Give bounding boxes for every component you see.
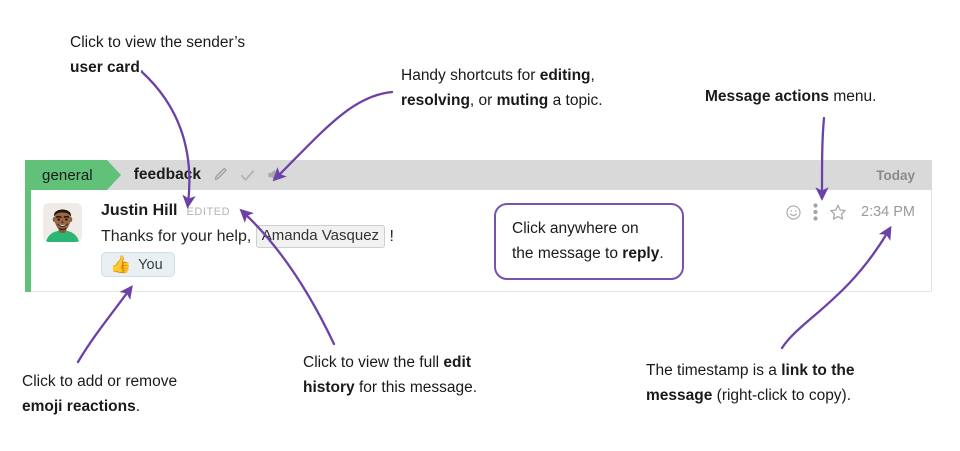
- callout-reply-bold: reply: [622, 245, 659, 262]
- date-label-today: Today: [876, 168, 915, 183]
- annotation-emoji-reactions: Click to add or remove emoji reactions.: [22, 369, 292, 419]
- annotation-message-actions: Message actions menu.: [705, 84, 955, 109]
- mute-speaker-icon[interactable]: [267, 167, 285, 183]
- annotation-shortcuts-muting: muting: [497, 92, 549, 109]
- annotation-shortcuts-tail: a topic.: [548, 92, 602, 109]
- message-body[interactable]: Justin Hill EDITED Thanks for your help,…: [31, 190, 932, 292]
- reaction-row: 👍 You: [101, 252, 175, 277]
- topic-bar: general feedback: [31, 160, 932, 190]
- annotation-edit-history-pre: Click to view the full: [303, 354, 443, 371]
- annotation-message-actions-bold: Message actions: [705, 88, 829, 105]
- annotation-user-card: Click to view the sender’s user card.: [70, 30, 360, 80]
- callout-reply: Click anywhere on the message to reply.: [494, 203, 684, 280]
- avatar[interactable]: [43, 203, 82, 242]
- emoji-smiley-icon[interactable]: [785, 204, 802, 221]
- pencil-icon[interactable]: [212, 167, 228, 183]
- annotation-timestamp-link: The timestamp is a link to the message (…: [646, 358, 956, 408]
- topic-action-icons: [212, 167, 285, 184]
- message-timestamp[interactable]: 2:34 PM: [861, 204, 915, 220]
- annotation-shortcuts-mid1: ,: [591, 67, 595, 84]
- stream-name: general: [42, 167, 93, 184]
- annotation-shortcuts-editing: editing: [540, 67, 591, 84]
- annotation-user-card-line1: Click to view the sender’s: [70, 34, 245, 51]
- reaction-label: You: [138, 257, 162, 273]
- annotation-user-card-tail: .: [140, 59, 144, 76]
- annotation-timestamp-pre: The timestamp is a: [646, 362, 781, 379]
- annotation-emoji-tail: .: [136, 398, 140, 415]
- annotation-user-card-bold: user card: [70, 59, 140, 76]
- annotation-message-actions-tail: menu.: [829, 88, 876, 105]
- annotation-shortcuts-mid2: , or: [470, 92, 497, 109]
- callout-reply-tail: .: [659, 245, 663, 262]
- annotation-shortcuts-pre: Handy shortcuts for: [401, 67, 540, 84]
- check-icon[interactable]: [239, 167, 256, 184]
- annotation-timestamp-tail: (right-click to copy).: [712, 387, 851, 404]
- message-text-before-mention: Thanks for your help,: [101, 226, 256, 248]
- callout-reply-pre: Click anywhere on the message to: [512, 220, 639, 262]
- annotation-emoji-pre: Click to add or remove: [22, 373, 177, 390]
- arrow-emoji-reactions: [78, 289, 130, 362]
- vertical-dots-icon[interactable]: [813, 203, 818, 221]
- message-action-icons: 2:34 PM: [785, 203, 915, 221]
- reaction-thumbs-up[interactable]: 👍 You: [101, 252, 175, 277]
- message-card[interactable]: general feedback: [25, 160, 932, 292]
- stream-tag-general[interactable]: general: [31, 160, 107, 190]
- annotated-screenshot-stage: Click to view the sender’s user card. Ha…: [0, 0, 960, 451]
- message-text-after-mention: !: [385, 226, 394, 248]
- mention-pill[interactable]: Amanda Vasquez: [256, 225, 385, 248]
- annotation-edit-history-tail: for this message.: [355, 379, 477, 396]
- annotation-edit-history: Click to view the full edit history for …: [303, 350, 543, 400]
- sender-name[interactable]: Justin Hill: [101, 202, 177, 220]
- message-header: Justin Hill EDITED: [101, 202, 230, 220]
- annotation-emoji-bold: emoji reactions: [22, 398, 136, 415]
- annotation-shortcuts-resolving: resolving: [401, 92, 470, 109]
- thumbs-up-emoji: 👍: [110, 256, 131, 273]
- edited-label[interactable]: EDITED: [186, 206, 230, 218]
- message-text: Thanks for your help, Amanda Vasquez !: [101, 225, 394, 248]
- star-outline-icon[interactable]: [829, 203, 847, 221]
- topic-name[interactable]: feedback: [134, 166, 201, 184]
- annotation-topic-shortcuts: Handy shortcuts for editing, resolving, …: [401, 63, 681, 113]
